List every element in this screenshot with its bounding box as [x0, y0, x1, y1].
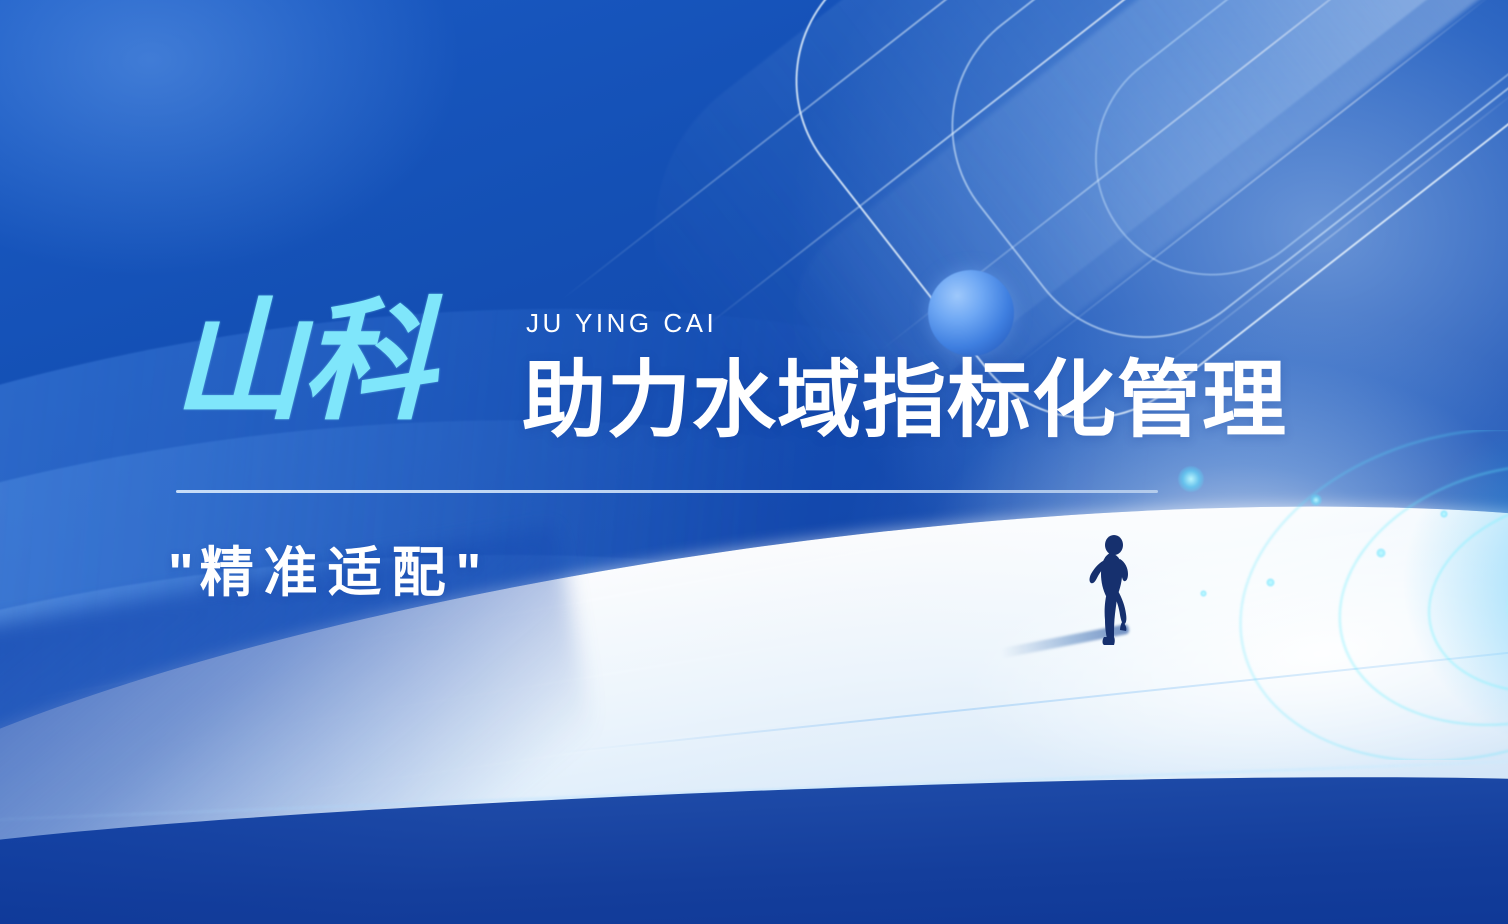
tagline: "精准适配" — [168, 542, 487, 604]
brand-pinyin: JU YING CAI — [526, 308, 717, 339]
divider-line — [176, 490, 1158, 493]
headline-title: 助力水域指标化管理 — [522, 358, 1287, 442]
tagline-open-quote: " — [168, 543, 200, 603]
brand-row: 山科 — [172, 296, 432, 428]
brand-name: 山科 — [172, 296, 432, 428]
banner-canvas: 山科 JU YING CAI 助力水域指标化管理 "精准适配" — [0, 0, 1508, 924]
text-content: 山科 JU YING CAI 助力水域指标化管理 "精准适配" — [0, 0, 1508, 924]
tagline-close-quote: " — [456, 543, 488, 603]
tagline-text: 精准适配 — [200, 543, 456, 603]
